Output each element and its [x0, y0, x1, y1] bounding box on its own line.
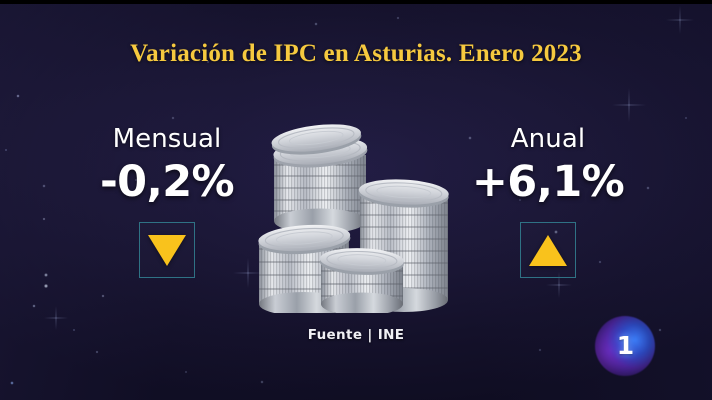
- trend-box-annual: [520, 222, 576, 278]
- channel-number-label: 1: [601, 322, 649, 370]
- letterbox-bar: [0, 0, 712, 4]
- trend-box-monthly: [139, 222, 195, 278]
- channel-logo: 1: [601, 322, 649, 370]
- triangle-up-icon: [529, 235, 567, 266]
- metric-value-monthly: -0,2%: [62, 161, 272, 204]
- broadcast-graphic: Variación de IPC en Asturias. Enero 2023…: [0, 0, 712, 400]
- coin-stacks-image: [252, 108, 462, 313]
- triangle-down-icon: [148, 235, 186, 266]
- page-title: Variación de IPC en Asturias. Enero 2023: [0, 40, 712, 68]
- metric-label-monthly: Mensual: [62, 126, 272, 152]
- metric-value-annual: +6,1%: [443, 161, 653, 204]
- metric-block-annual: Anual +6,1%: [443, 126, 653, 278]
- metric-label-annual: Anual: [443, 126, 653, 152]
- metric-block-monthly: Mensual -0,2%: [62, 126, 272, 278]
